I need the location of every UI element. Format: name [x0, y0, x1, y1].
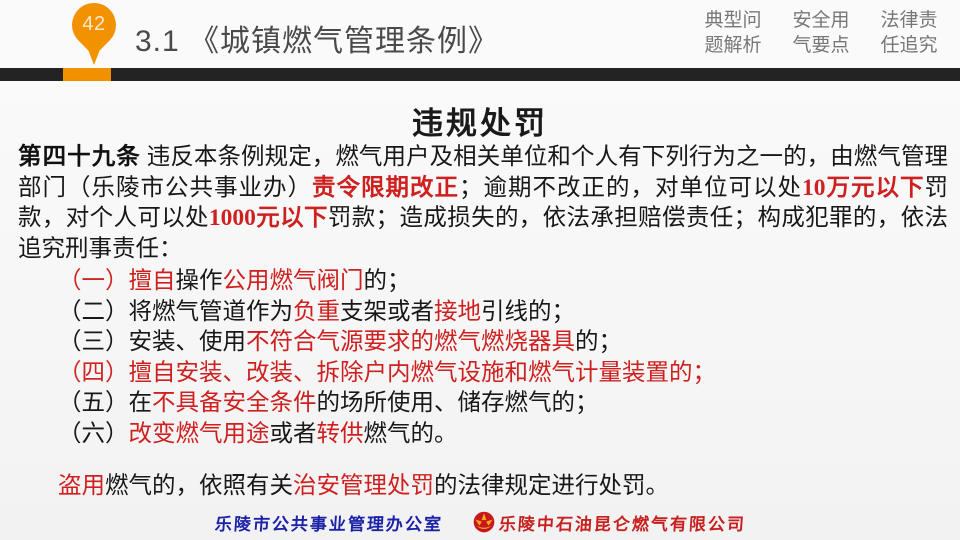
list-item-marker: （五）: [58, 390, 129, 416]
list-item-part: 接地: [434, 299, 481, 325]
page-number: 42: [82, 3, 105, 34]
list-item-part: 安装、使用: [129, 329, 247, 355]
list-item-marker: （三）: [58, 329, 129, 355]
list-item: （三）安装、使用不符合气源要求的燃气燃烧器具的；: [18, 327, 948, 358]
list-item: （六）改变燃气用途或者转供燃气的。: [18, 419, 948, 450]
header-title: 3.1 《城镇燃气管理条例》: [135, 16, 499, 60]
footer-office-name: 乐陵市公共事业管理办公室: [214, 510, 444, 535]
tab-safe-gas-use[interactable]: 安全用 气要点: [788, 8, 854, 58]
list-item-part: 将燃气管道作为: [129, 299, 294, 325]
tab-legal-liability[interactable]: 法律责 任追究: [876, 8, 942, 58]
tab-typical-questions-line2: 题解析: [700, 33, 766, 58]
list-item-part: 支架或者: [340, 299, 434, 325]
list-item: （五）在不具备安全条件的场所使用、储存燃气的；: [18, 388, 948, 419]
list-item-part: 的场所使用、储存燃气的；: [317, 390, 599, 416]
slide-header: 42 3.1 《城镇燃气管理条例》 典型问 题解析 安全用 气要点 法律责 任追…: [0, 0, 960, 80]
list-item: （四）擅自安装、改装、拆除户内燃气设施和燃气计量装置的；: [18, 358, 948, 389]
list-item-part: 在: [129, 390, 153, 416]
list-item-part: 转供: [317, 421, 364, 447]
list-item-part: 引线的；: [481, 299, 575, 325]
list-item-part: 不符合气源要求的燃气燃烧器具: [246, 329, 575, 355]
list-item-marker: （四）: [58, 360, 129, 386]
article-highlight-fine-unit: 10万元以下: [802, 175, 925, 201]
petrochina-logo: [473, 511, 495, 533]
closing-part: 燃气的，依照有关: [105, 473, 293, 499]
article-seg3: ；逾期不改正的，对单位可以处: [459, 175, 802, 201]
header-nav-tabs: 典型问 题解析 安全用 气要点 法律责 任追究: [700, 8, 942, 58]
footer-company-group: 乐陵中石油昆仑燃气有限公司: [473, 510, 746, 535]
header-divider-accent: [63, 68, 111, 81]
footer-company-name: 乐陵中石油昆仑燃气有限公司: [498, 510, 747, 535]
list-item-part: 擅自安装、改装、拆除户内燃气设施和燃气计量装置的；: [129, 360, 717, 386]
article-paragraph: 第四十九条 违反本条例规定，燃气用户及相关单位和个人有下列行为之一的，由燃气管理…: [18, 142, 948, 264]
list-item-marker: （二）: [58, 299, 129, 325]
list-item-part: 操作: [176, 268, 223, 294]
list-item: （一）擅自操作公用燃气阀门的；: [18, 266, 948, 297]
list-item-part: 公用燃气阀门: [223, 268, 364, 294]
tab-legal-liability-line1: 法律责: [876, 8, 942, 33]
list-item-part: 的；: [364, 268, 411, 294]
page-title: 违规处罚: [0, 98, 960, 143]
list-item-marker: （六）: [58, 421, 129, 447]
list-item-part: 擅自: [129, 268, 176, 294]
list-item-part: 改变燃气用途: [129, 421, 270, 447]
tab-legal-liability-line2: 任追究: [876, 33, 942, 58]
page-pin-label-wrap: 42: [72, 3, 116, 65]
closing-paragraph: 盗用燃气的，依照有关治安管理处罚的法律规定进行处罚。: [18, 471, 948, 502]
list-item-part: 燃气的。: [364, 421, 458, 447]
tab-typical-questions-line1: 典型问: [700, 8, 766, 33]
closing-part-public-security: 治安管理处罚: [293, 473, 434, 499]
closing-part: 的法律规定进行处罚。: [434, 473, 669, 499]
list-item-part: 不具备安全条件: [152, 390, 317, 416]
slide-footer: 乐陵市公共事业管理办公室 乐陵中石油昆仑燃气有限公司: [0, 506, 960, 538]
list-item: （二）将燃气管道作为负重支架或者接地引线的；: [18, 297, 948, 328]
slide-body: 第四十九条 违反本条例规定，燃气用户及相关单位和个人有下列行为之一的，由燃气管理…: [18, 142, 948, 502]
list-item-part: 的；: [575, 329, 622, 355]
tab-safe-gas-use-line1: 安全用: [788, 8, 854, 33]
list-item-part: 或者: [270, 421, 317, 447]
violation-list: （一）擅自操作公用燃气阀门的； （二）将燃气管道作为负重支架或者接地引线的； （…: [18, 266, 948, 449]
article-highlight-order-correct: 责令限期改正: [312, 175, 459, 201]
article-highlight-fine-individual: 1000元以下: [209, 205, 328, 231]
closing-part-theft: 盗用: [58, 473, 105, 499]
list-item-part: 负重: [293, 299, 340, 325]
tab-safe-gas-use-line2: 气要点: [788, 33, 854, 58]
header-divider-bar: [0, 68, 960, 81]
slide-root: 42 3.1 《城镇燃气管理条例》 典型问 题解析 安全用 气要点 法律责 任追…: [0, 0, 960, 540]
list-item-marker: （一）: [58, 268, 129, 294]
tab-typical-questions[interactable]: 典型问 题解析: [700, 8, 766, 58]
article-number: 第四十九条: [18, 144, 141, 170]
